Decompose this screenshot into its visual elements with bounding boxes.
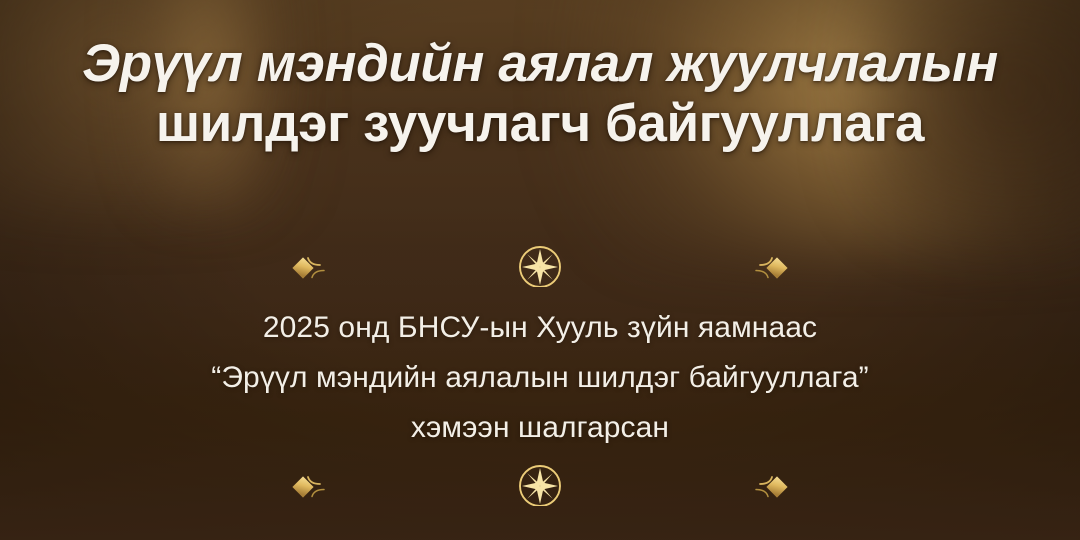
headline: Эрүүл мэндийн аялал жуулчлалын шилдэг зу… xyxy=(0,34,1080,154)
headline-line-1: Эрүүл мэндийн аялал жуулчлалын xyxy=(0,34,1080,94)
divider-graphic xyxy=(290,243,790,287)
diamond-left-icon xyxy=(292,257,313,278)
diamond-right-icon xyxy=(766,257,787,278)
headline-line-2: шилдэг зуучлагч байгууллага xyxy=(0,94,1080,154)
promo-slide: Эрүүл мэндийн аялал жуулчлалын шилдэг зу… xyxy=(0,0,1080,540)
divider-graphic xyxy=(290,462,790,506)
subtitle-line-2: “Эрүүл мэндийн аялалын шилдэг байгууллаг… xyxy=(0,353,1080,403)
ornamental-divider-top xyxy=(290,243,790,287)
ornamental-divider-bottom xyxy=(290,462,790,506)
eight-pointed-star-icon xyxy=(522,468,558,504)
subtitle: 2025 онд БНСУ-ын Хууль зүйн яамнаас “Эрү… xyxy=(0,303,1080,453)
diamond-right-icon xyxy=(766,476,787,497)
subtitle-line-3: хэмээн шалгарсан xyxy=(0,403,1080,453)
diamond-left-icon xyxy=(292,476,313,497)
subtitle-line-1: 2025 онд БНСУ-ын Хууль зүйн яамнаас xyxy=(0,303,1080,353)
eight-pointed-star-icon xyxy=(522,249,558,285)
slide-content: Эрүүл мэндийн аялал жуулчлалын шилдэг зу… xyxy=(0,0,1080,540)
